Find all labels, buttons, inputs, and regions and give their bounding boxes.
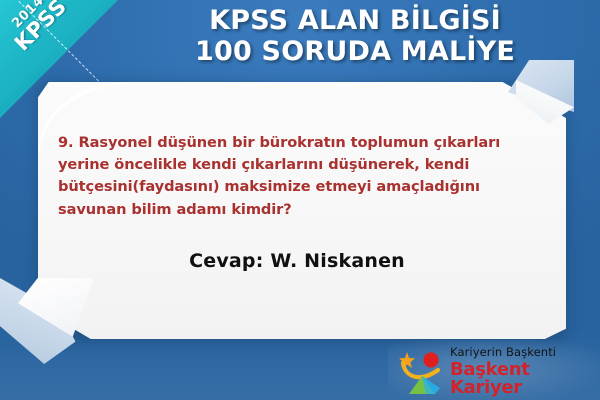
slide-container: 2014 KPSS KPSS ALAN BİLGİSİ 100 SORUDA M…: [0, 0, 600, 400]
folded-corner-top-right: [508, 60, 574, 112]
logo-tagline: Kariyerin Başkenti: [450, 347, 594, 359]
person-star-icon: [398, 350, 446, 394]
title-line-1: KPSS ALAN BİLGİSİ: [120, 6, 590, 37]
answer-text: Cevap: W. Niskanen: [58, 250, 536, 272]
logo-brand: Başkent Kariyer: [450, 361, 594, 397]
page-title: KPSS ALAN BİLGİSİ 100 SORUDA MALİYE: [120, 6, 590, 68]
brand-logo[interactable]: Kariyerin Başkenti Başkent Kariyer: [398, 348, 594, 396]
folded-corner-bottom-left: [0, 278, 92, 364]
logo-text-block: Kariyerin Başkenti Başkent Kariyer: [450, 347, 594, 397]
question-text: 9. Rasyonel düşünen bir bürokratın toplu…: [58, 132, 536, 221]
